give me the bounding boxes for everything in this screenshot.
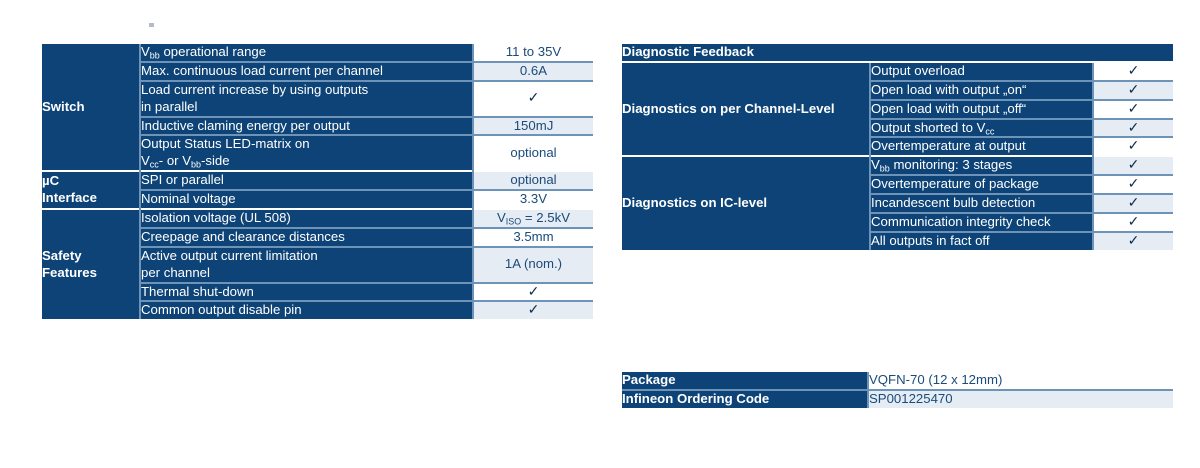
diagnostic-value-check: ✓ (1093, 156, 1173, 175)
checkmark-icon: ✓ (1128, 175, 1140, 191)
feature-label: Isolation voltage (UL 508) (140, 209, 473, 228)
feature-label: Load current increase by using outputsin… (140, 81, 473, 117)
diagnostic-value-check: ✓ (1093, 81, 1173, 100)
diagnostic-category-1: Diagnostics on per Channel-Level (622, 62, 870, 156)
feature-value: 3.3V (473, 190, 593, 209)
checkmark-icon: ✓ (1128, 119, 1140, 135)
table-row: µCInterfaceSPI or paralleloptional (42, 171, 593, 190)
feature-value: 1A (nom.) (473, 247, 593, 283)
feature-label: Nominal voltage (140, 190, 473, 209)
diagnostic-value-check: ✓ (1093, 137, 1173, 156)
feature-category-3: SafetyFeatures (42, 209, 140, 319)
checkmark-icon: ✓ (1128, 100, 1140, 116)
ordering-label: Package (622, 372, 868, 390)
diagnostic-label: Output overload (870, 62, 1093, 81)
feature-value: 150mJ (473, 117, 593, 136)
diagnostic-label: All outputs in fact off (870, 232, 1093, 250)
feature-value: 11 to 35V (473, 44, 593, 62)
diagnostic-label: Incandescent bulb detection (870, 194, 1093, 213)
feature-label: Common output disable pin (140, 301, 473, 319)
diagnostic-label: Output shorted to Vcc (870, 119, 1093, 138)
feature-label: Inductive claming energy per output (140, 117, 473, 136)
feature-value-check: ✓ (473, 301, 593, 319)
feature-value: optional (473, 135, 593, 171)
diagnostic-feedback-title: Diagnostic Feedback (622, 44, 1173, 62)
ordering-value: SP001225470 (868, 390, 1173, 408)
feature-label: Thermal shut-down (140, 283, 473, 302)
table-row: Infineon Ordering CodeSP001225470 (622, 390, 1173, 408)
feature-label: Active output current limitationper chan… (140, 247, 473, 283)
table-row: Diagnostics on per Channel-LevelOutput o… (622, 62, 1173, 81)
feature-value-check: ✓ (473, 283, 593, 302)
feature-label: SPI or parallel (140, 171, 473, 190)
checkmark-icon: ✓ (1128, 137, 1140, 153)
ordering-value: VQFN-70 (12 x 12mm) (868, 372, 1173, 390)
diagnostic-label: Overtemperature of package (870, 175, 1093, 194)
diagnostic-value-check: ✓ (1093, 213, 1173, 232)
product-feature-table: SwitchVbb operational range11 to 35VMax.… (42, 44, 593, 319)
diagnostic-feedback-table: Diagnostic FeedbackDiagnostics on per Ch… (622, 44, 1173, 250)
checkmark-icon: ✓ (528, 283, 540, 299)
feature-label: Vbb operational range (140, 44, 473, 62)
feature-value: 0.6A (473, 62, 593, 81)
table-header-row: Diagnostic Feedback (622, 44, 1173, 62)
feature-label: Output Status LED-matrix onVcc- or Vbb-s… (140, 135, 473, 171)
ordering-label: Infineon Ordering Code (622, 390, 868, 408)
feature-value-check: ✓ (473, 81, 593, 117)
table-row: Diagnostics on IC-levelVbb monitoring: 3… (622, 156, 1173, 175)
diagnostic-label: Communication integrity check (870, 213, 1093, 232)
table-row: PackageVQFN-70 (12 x 12mm) (622, 372, 1173, 390)
package-ordering-table: PackageVQFN-70 (12 x 12mm)Infineon Order… (622, 372, 1173, 408)
diagnostic-value-check: ✓ (1093, 100, 1173, 119)
diagnostic-value-check: ✓ (1093, 119, 1173, 138)
checkmark-icon: ✓ (1128, 81, 1140, 97)
checkmark-icon: ✓ (1128, 62, 1140, 78)
page-artifact-speck (149, 23, 154, 27)
feature-category-2: µCInterface (42, 171, 140, 209)
checkmark-icon: ✓ (1128, 213, 1140, 229)
diagnostic-label: Vbb monitoring: 3 stages (870, 156, 1093, 175)
specification-sheet: SwitchVbb operational range11 to 35VMax.… (0, 0, 1200, 468)
feature-value: optional (473, 171, 593, 190)
diagnostic-value-check: ✓ (1093, 232, 1173, 250)
checkmark-icon: ✓ (528, 89, 540, 105)
diagnostic-label: Overtemperature at output (870, 137, 1093, 156)
table-row: SwitchVbb operational range11 to 35V (42, 44, 593, 62)
diagnostic-label: Open load with output „on“ (870, 81, 1093, 100)
diagnostic-label: Open load with output „off“ (870, 100, 1093, 119)
feature-label: Max. continuous load current per channel (140, 62, 473, 81)
feature-label: Creepage and clearance distances (140, 228, 473, 247)
checkmark-icon: ✓ (528, 301, 540, 317)
table-row: SafetyFeaturesIsolation voltage (UL 508)… (42, 209, 593, 228)
diagnostic-value-check: ✓ (1093, 175, 1173, 194)
checkmark-icon: ✓ (1128, 232, 1140, 248)
diagnostic-value-check: ✓ (1093, 194, 1173, 213)
feature-category-1: Switch (42, 44, 140, 171)
diagnostic-category-2: Diagnostics on IC-level (622, 156, 870, 249)
checkmark-icon: ✓ (1128, 194, 1140, 210)
checkmark-icon: ✓ (1128, 156, 1140, 172)
diagnostic-value-check: ✓ (1093, 62, 1173, 81)
feature-value: VISO = 2.5kV (473, 209, 593, 228)
feature-value: 3.5mm (473, 228, 593, 247)
